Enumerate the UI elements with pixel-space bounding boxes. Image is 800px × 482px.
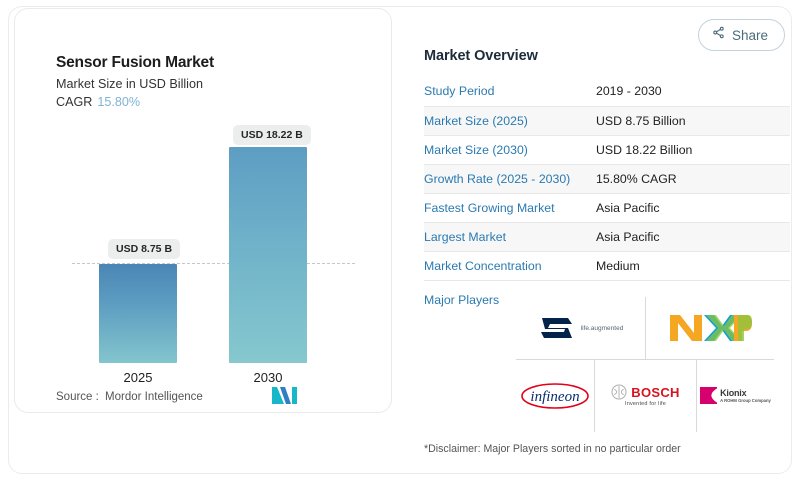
table-row: Study Period 2019 - 2030 <box>424 77 790 106</box>
row-label: Market Size (2030) <box>424 135 596 164</box>
row-value: USD 8.75 Billion <box>596 106 790 135</box>
major-players-logo-grid: life.augmented infineon <box>516 297 774 432</box>
player-logo-st: life.augmented <box>516 297 645 359</box>
row-value: Asia Pacific <box>596 193 790 222</box>
bosch-wordmark: BOSCH <box>631 385 679 400</box>
mordor-intelligence-logo <box>272 386 298 404</box>
kionix-tagline: A ROHM Group Company <box>720 398 771 403</box>
st-tagline: life.augmented <box>581 325 624 332</box>
share-icon <box>712 26 725 44</box>
row-value: 2019 - 2030 <box>596 77 790 106</box>
row-label: Market Size (2025) <box>424 106 596 135</box>
screenshot-root: Share Sensor Fusion Market Market Size i… <box>0 0 800 482</box>
row-label: Fastest Growing Market <box>424 193 596 222</box>
source-name: Mordor Intelligence <box>105 391 203 403</box>
table-row: Market Size (2030) USD 18.22 Billion <box>424 135 790 164</box>
kionix-wordmark: Kionix <box>720 388 771 398</box>
disclaimer-text: *Disclaimer: Major Players sorted in no … <box>424 443 681 455</box>
source-label: Source : <box>56 391 99 403</box>
player-logo-kionix: Kionix A ROHM Group Company <box>697 359 774 432</box>
bar-2025 <box>99 264 177 363</box>
row-label: Largest Market <box>424 222 596 251</box>
overview-table: Study Period 2019 - 2030 Market Size (20… <box>424 77 790 281</box>
bosch-tagline: Invented for life <box>625 401 666 407</box>
bar-value-label-2025: USD 8.75 B <box>108 239 180 259</box>
table-row: Fastest Growing Market Asia Pacific <box>424 193 790 222</box>
x-axis-tick-2030: 2030 <box>229 370 307 385</box>
overview-title: Market Overview <box>424 48 790 64</box>
row-value: Medium <box>596 251 790 280</box>
bosch-mark-icon <box>611 384 627 400</box>
table-row: Largest Market Asia Pacific <box>424 222 790 251</box>
table-row: Market Size (2025) USD 8.75 Billion <box>424 106 790 135</box>
row-value: Asia Pacific <box>596 222 790 251</box>
svg-text:infineon: infineon <box>530 389 579 405</box>
table-row: Growth Rate (2025 - 2030) 15.80% CAGR <box>424 164 790 193</box>
nxp-logo-icon <box>668 311 752 345</box>
row-value: USD 18.22 Billion <box>596 135 790 164</box>
st-logo-icon <box>538 315 576 341</box>
player-logo-infineon: infineon <box>516 359 594 432</box>
chart-source: Source : Mordor Intelligence <box>56 391 203 403</box>
row-label: Growth Rate (2025 - 2030) <box>424 164 596 193</box>
x-axis-tick-2025: 2025 <box>99 370 177 385</box>
player-logo-nxp <box>645 297 774 359</box>
table-row: Market Concentration Medium <box>424 251 790 280</box>
bar-chart-plot: USD 8.75 B USD 18.22 B 2025 2030 <box>14 8 392 413</box>
row-value: 15.80% CAGR <box>596 164 790 193</box>
kionix-mark-icon <box>700 387 717 404</box>
row-label: Market Concentration <box>424 251 596 280</box>
market-overview-panel: Market Overview Study Period 2019 - 2030… <box>424 48 790 307</box>
share-button[interactable]: Share <box>698 19 785 51</box>
row-label: Study Period <box>424 77 596 106</box>
player-logo-bosch: BOSCH Invented for life <box>594 359 697 432</box>
share-label: Share <box>732 28 768 43</box>
bar-value-label-2030: USD 18.22 B <box>233 125 311 145</box>
bar-2030 <box>229 147 307 363</box>
infineon-logo-icon: infineon <box>520 381 590 411</box>
